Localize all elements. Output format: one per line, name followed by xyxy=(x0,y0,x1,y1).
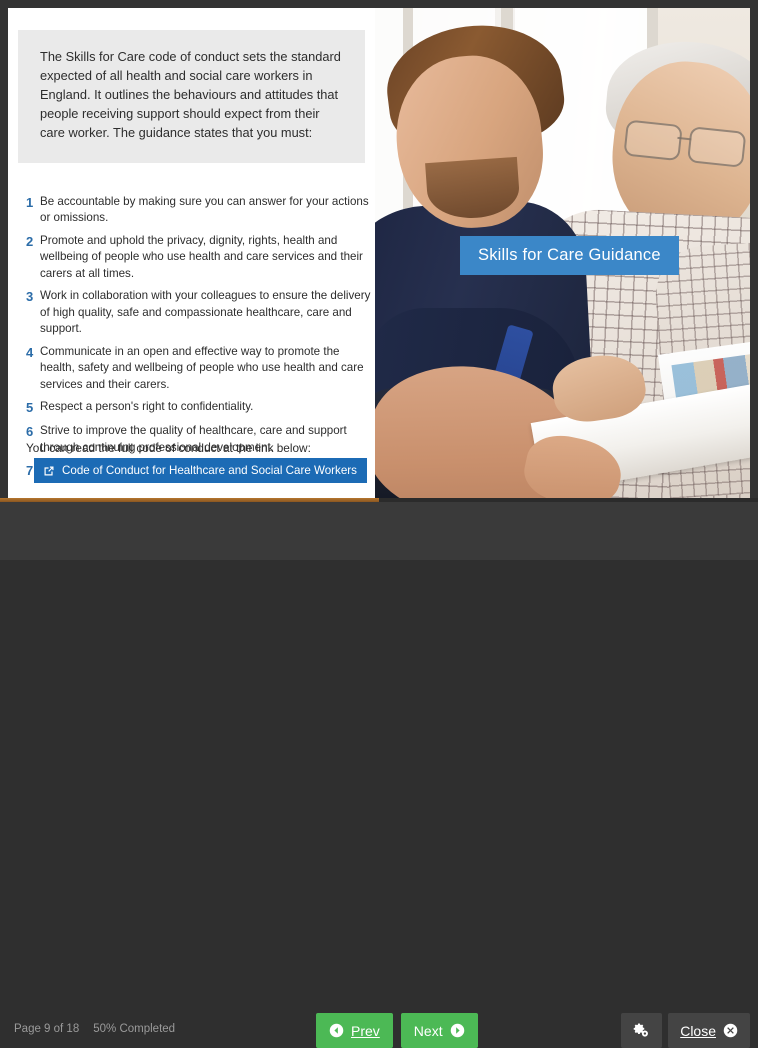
link-lead-text: You can read the full code of conduct at… xyxy=(26,440,371,457)
close-button-label: Close xyxy=(680,1023,716,1039)
player-controls: Close xyxy=(621,1013,750,1048)
close-button[interactable]: Close xyxy=(668,1013,750,1048)
close-circle-icon xyxy=(723,1023,738,1038)
slide-content-column: The Skills for Care code of conduct sets… xyxy=(8,8,375,498)
chevron-right-circle-icon xyxy=(450,1023,465,1038)
player-footer: Page 9 of 18 50% Completed Prev Next xyxy=(0,502,758,560)
course-player: The Skills for Care code of conduct sets… xyxy=(0,0,758,560)
prev-button-label: Prev xyxy=(351,1023,380,1039)
slide-stage: The Skills for Care code of conduct sets… xyxy=(8,8,750,498)
list-item: 1Be accountable by making sure you can a… xyxy=(26,194,371,227)
chevron-left-circle-icon xyxy=(329,1023,344,1038)
list-item-number: 2 xyxy=(26,233,40,251)
external-link-icon xyxy=(43,465,55,477)
list-item-number: 5 xyxy=(26,399,40,417)
page-status: Page 9 of 18 xyxy=(14,1023,79,1035)
list-item-text: Be accountable by making sure you can an… xyxy=(40,194,371,227)
list-item: 5Respect a person's right to confidentia… xyxy=(26,399,371,417)
slide-image-column: Skills for Care Guidance xyxy=(375,8,750,498)
settings-button[interactable] xyxy=(621,1013,662,1048)
prev-button[interactable]: Prev xyxy=(316,1013,393,1048)
list-item-text: Promote and uphold the privacy, dignity,… xyxy=(40,233,371,282)
care-worker-photo: Skills for Care Guidance xyxy=(375,8,750,498)
list-item: 3Work in collaboration with your colleag… xyxy=(26,288,371,337)
list-item: 2Promote and uphold the privacy, dignity… xyxy=(26,233,371,282)
intro-paragraph: The Skills for Care code of conduct sets… xyxy=(40,48,343,143)
list-item: 4Communicate in an open and effective wa… xyxy=(26,344,371,393)
navigation-buttons: Prev Next xyxy=(316,1013,478,1048)
link-button-label: Code of Conduct for Healthcare and Socia… xyxy=(62,464,357,477)
completion-status: 50% Completed xyxy=(93,1023,175,1035)
image-caption: Skills for Care Guidance xyxy=(460,236,679,275)
code-of-conduct-link-button[interactable]: Code of Conduct for Healthcare and Socia… xyxy=(34,458,367,483)
next-button-label: Next xyxy=(414,1023,443,1039)
list-item-number: 3 xyxy=(26,288,40,306)
next-button[interactable]: Next xyxy=(401,1013,478,1048)
list-item-number: 4 xyxy=(26,344,40,362)
status-text-group: Page 9 of 18 50% Completed xyxy=(14,1023,175,1035)
list-item-text: Communicate in an open and effective way… xyxy=(40,344,371,393)
list-item-number: 1 xyxy=(26,194,40,212)
list-item-text: Work in collaboration with your colleagu… xyxy=(40,288,371,337)
list-item-text: Respect a person's right to confidential… xyxy=(40,399,371,415)
gear-icon xyxy=(633,1022,650,1039)
intro-text-box: The Skills for Care code of conduct sets… xyxy=(18,30,365,163)
